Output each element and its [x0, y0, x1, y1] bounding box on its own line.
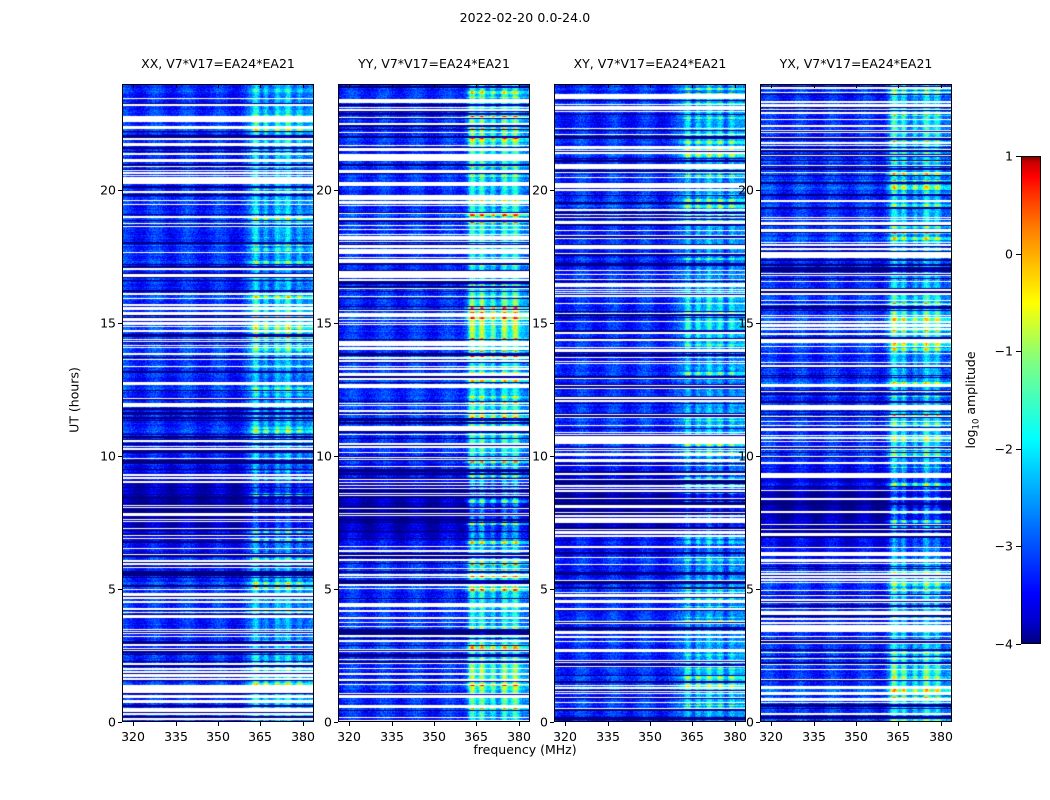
y-tick-label: 15	[92, 316, 116, 331]
x-tick-top	[176, 84, 177, 88]
y-tick-label: 0	[92, 715, 116, 730]
x-tick-top	[349, 84, 350, 88]
y-tick-label: 10	[92, 449, 116, 464]
colorbar-tick-label: −1	[981, 344, 1013, 359]
y-tick	[550, 323, 554, 324]
y-tick-label: 15	[308, 316, 332, 331]
x-tick-top	[898, 84, 899, 88]
panel-title-yy: YY, V7*V17=EA24*EA21	[338, 56, 530, 71]
x-tick	[349, 722, 350, 726]
y-tick	[334, 190, 338, 191]
x-tick-top	[434, 84, 435, 88]
y-tick-label: 0	[308, 715, 332, 730]
x-tick	[303, 722, 304, 726]
y-tick-label: 5	[730, 582, 754, 597]
colorbar[interactable]	[1021, 156, 1041, 644]
x-tick	[392, 722, 393, 726]
y-tick-label: 0	[730, 715, 754, 730]
x-tick-top	[303, 84, 304, 88]
colorbar-tick	[1016, 254, 1021, 255]
x-tick	[565, 722, 566, 726]
panel-title-xy: XY, V7*V17=EA24*EA21	[554, 56, 746, 71]
y-tick	[756, 190, 760, 191]
x-tick-top	[133, 84, 134, 88]
x-tick-top	[941, 84, 942, 88]
y-tick	[334, 589, 338, 590]
x-tick-top	[608, 84, 609, 88]
x-tick	[519, 722, 520, 726]
y-tick	[118, 589, 122, 590]
y-tick-label: 5	[524, 582, 548, 597]
y-tick-label: 0	[524, 715, 548, 730]
colorbar-tick-label: −2	[981, 442, 1013, 457]
x-tick	[476, 722, 477, 726]
panel-title-xx: XX, V7*V17=EA24*EA21	[122, 56, 314, 71]
x-tick	[771, 722, 772, 726]
y-tick-label: 5	[92, 582, 116, 597]
y-tick	[550, 589, 554, 590]
y-tick	[118, 722, 122, 723]
waterfall-canvas-xy	[555, 85, 745, 721]
waterfall-xx[interactable]	[122, 84, 314, 722]
x-tick	[260, 722, 261, 726]
y-tick-label: 10	[524, 449, 548, 464]
x-tick	[814, 722, 815, 726]
x-tick-top	[260, 84, 261, 88]
y-tick	[118, 190, 122, 191]
y-tick-label: 20	[730, 183, 754, 198]
waterfall-canvas-yx	[761, 85, 951, 721]
x-tick	[133, 722, 134, 726]
y-tick-label: 20	[92, 183, 116, 198]
panel-title-yx: YX, V7*V17=EA24*EA21	[760, 56, 952, 71]
y-tick	[756, 589, 760, 590]
colorbar-label-main: log	[963, 429, 978, 448]
x-tick-top	[692, 84, 693, 88]
y-tick	[550, 190, 554, 191]
waterfall-canvas-yy	[339, 85, 529, 721]
y-tick	[756, 323, 760, 324]
x-tick-top	[814, 84, 815, 88]
x-tick-top	[392, 84, 393, 88]
y-tick-label: 5	[308, 582, 332, 597]
figure-suptitle: 2022-02-20 0.0-24.0	[0, 10, 1050, 25]
colorbar-tick-label: −4	[981, 637, 1013, 652]
colorbar-tick-label: 1	[981, 149, 1013, 164]
y-tick-label: 10	[730, 449, 754, 464]
x-tick	[650, 722, 651, 726]
y-tick-label: 20	[308, 183, 332, 198]
x-tick	[176, 722, 177, 726]
y-tick-label: 10	[308, 449, 332, 464]
x-tick	[692, 722, 693, 726]
colorbar-label-sub: 10	[971, 419, 981, 430]
colorbar-label-tail: amplitude	[963, 351, 978, 418]
y-tick	[118, 456, 122, 457]
x-tick-top	[735, 84, 736, 88]
y-tick-label: 15	[524, 316, 548, 331]
colorbar-tick	[1016, 351, 1021, 352]
x-tick	[608, 722, 609, 726]
x-tick	[856, 722, 857, 726]
y-tick	[756, 722, 760, 723]
colorbar-tick	[1016, 546, 1021, 547]
x-tick-top	[218, 84, 219, 88]
y-tick-label: 15	[730, 316, 754, 331]
y-tick	[756, 456, 760, 457]
x-tick-top	[476, 84, 477, 88]
waterfall-xy[interactable]	[554, 84, 746, 722]
y-tick	[334, 323, 338, 324]
y-tick	[550, 722, 554, 723]
x-tick-top	[771, 84, 772, 88]
x-axis-label: frequency (MHz)	[0, 742, 1050, 757]
colorbar-label: log10 amplitude	[963, 351, 982, 448]
y-tick	[334, 722, 338, 723]
y-axis-label: UT (hours)	[67, 367, 82, 433]
y-tick	[550, 456, 554, 457]
colorbar-tick-label: 0	[981, 247, 1013, 262]
x-tick-top	[856, 84, 857, 88]
x-tick-top	[519, 84, 520, 88]
waterfall-canvas-xx	[123, 85, 313, 721]
x-tick	[434, 722, 435, 726]
y-tick-label: 20	[524, 183, 548, 198]
waterfall-yy[interactable]	[338, 84, 530, 722]
colorbar-tick	[1016, 644, 1021, 645]
y-tick	[118, 323, 122, 324]
colorbar-tick-label: −3	[981, 539, 1013, 554]
x-tick	[941, 722, 942, 726]
colorbar-tick	[1016, 156, 1021, 157]
x-tick-top	[565, 84, 566, 88]
waterfall-yx[interactable]	[760, 84, 952, 722]
y-tick	[334, 456, 338, 457]
x-tick-top	[650, 84, 651, 88]
x-tick	[218, 722, 219, 726]
x-tick	[898, 722, 899, 726]
colorbar-tick	[1016, 449, 1021, 450]
